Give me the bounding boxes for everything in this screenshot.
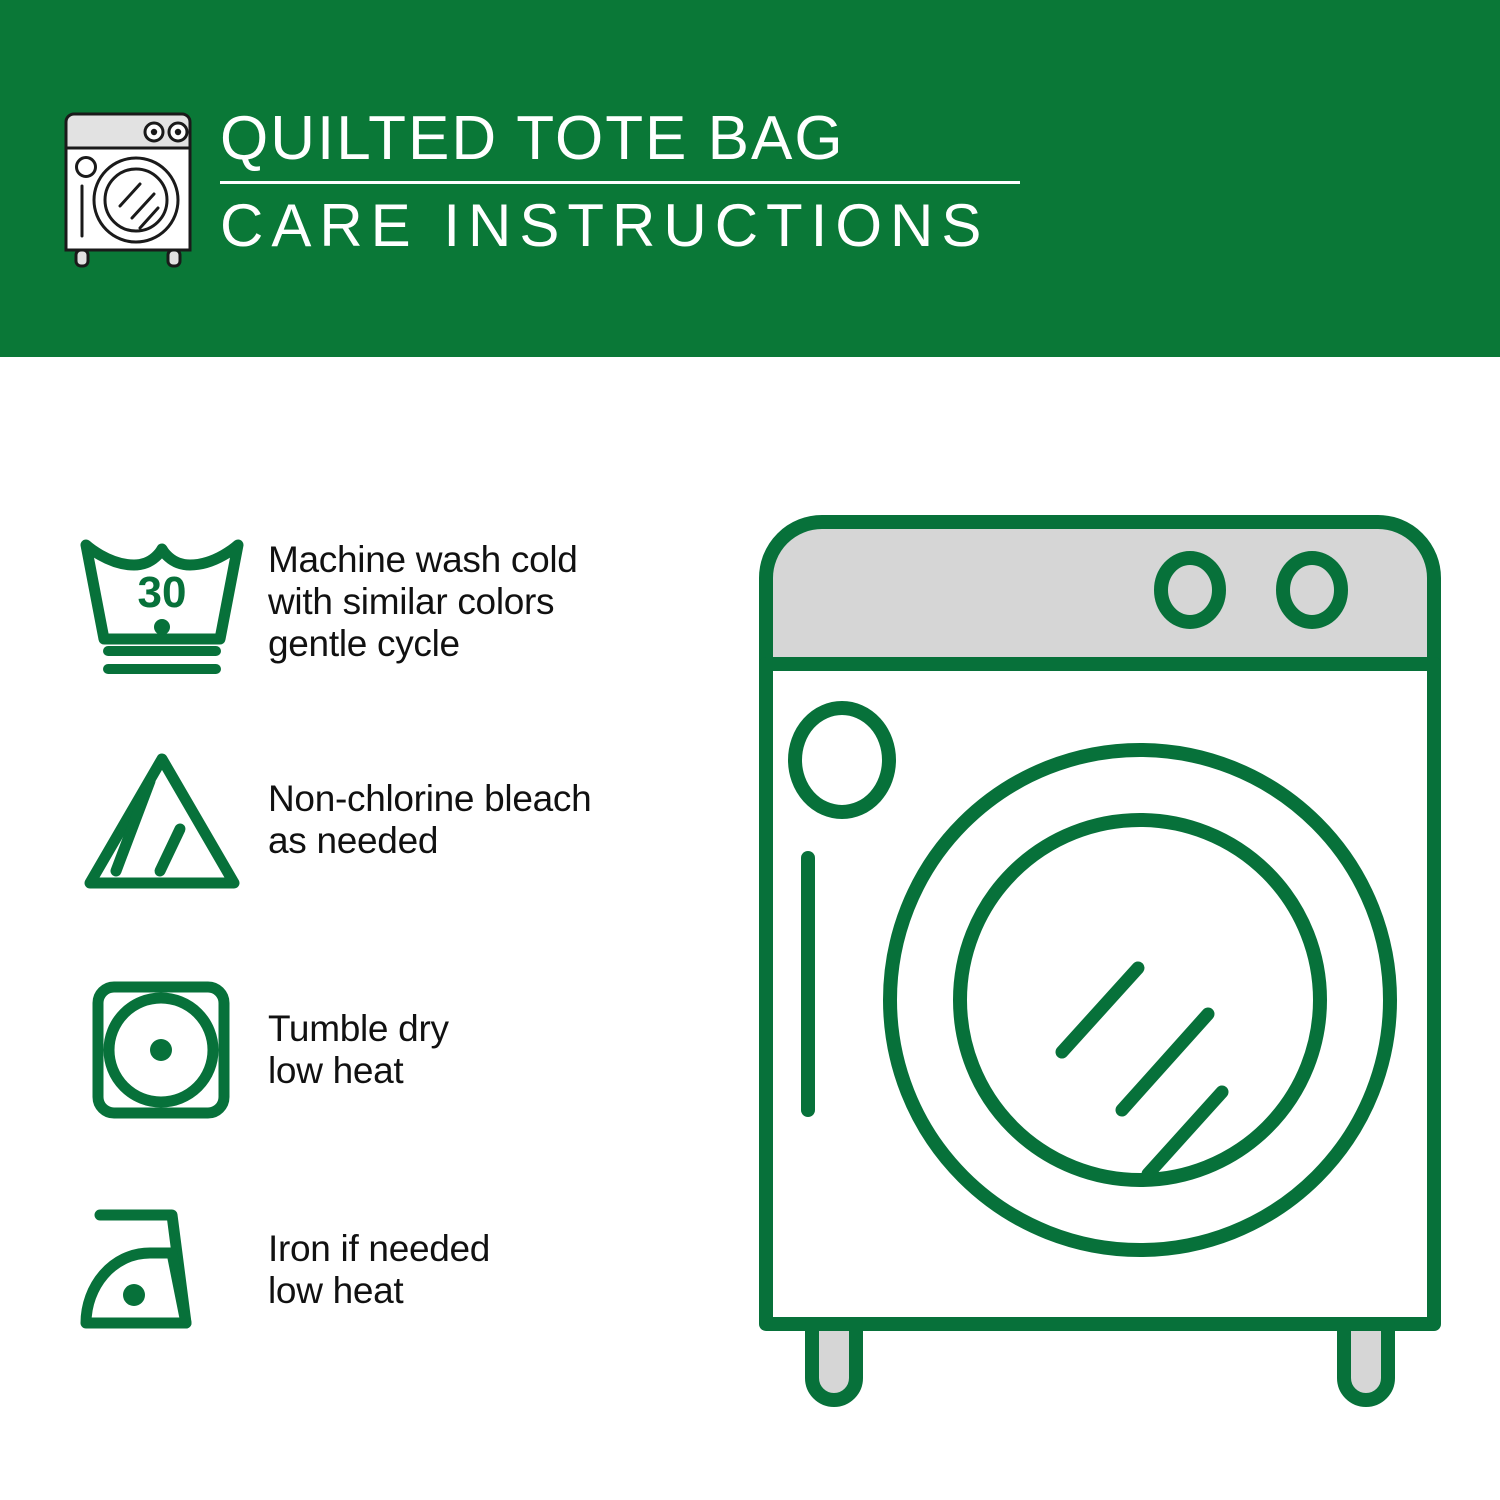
care-instructions-page: QUILTED TOTE BAG CARE INSTRUCTIONS 30 [0, 0, 1500, 1500]
text-line: Iron if needed [268, 1228, 712, 1270]
text-line: Machine wash cold [268, 539, 712, 581]
tumble-dry-icon [72, 975, 252, 1125]
list-item-text: Iron if needed low heat [252, 1228, 712, 1312]
bleach-triangle-icon [72, 745, 252, 895]
washing-machine-illustration [740, 470, 1460, 1430]
text-line: low heat [268, 1270, 712, 1312]
wash-temperature-value: 30 [138, 568, 187, 617]
text-line: gentle cycle [268, 623, 712, 665]
text-line: low heat [268, 1050, 712, 1092]
list-item: Iron if needed low heat [72, 1200, 712, 1340]
washing-machine-icon [62, 110, 194, 270]
list-item: 30 Machine wash cold with similar colors… [72, 522, 712, 682]
text-line: Tumble dry [268, 1008, 712, 1050]
list-item-text: Tumble dry low heat [252, 1008, 712, 1092]
text-line: with similar colors [268, 581, 712, 623]
list-item: Tumble dry low heat [72, 975, 712, 1125]
title-divider [220, 181, 1020, 184]
wash-tub-30-icon: 30 [72, 527, 252, 677]
header-banner: QUILTED TOTE BAG CARE INSTRUCTIONS [0, 0, 1500, 357]
list-item-text: Machine wash cold with similar colors ge… [252, 539, 712, 665]
list-item-text: Non-chlorine bleach as needed [252, 778, 712, 862]
text-line: Non-chlorine bleach [268, 778, 712, 820]
header-content: QUILTED TOTE BAG CARE INSTRUCTIONS [62, 104, 1022, 274]
header-title-group: QUILTED TOTE BAG CARE INSTRUCTIONS [220, 104, 1020, 259]
page-subtitle: CARE INSTRUCTIONS [220, 193, 1020, 259]
list-item: Non-chlorine bleach as needed [72, 740, 712, 900]
page-title: QUILTED TOTE BAG [220, 104, 1020, 174]
text-line: as needed [268, 820, 712, 862]
iron-icon [72, 1195, 252, 1345]
